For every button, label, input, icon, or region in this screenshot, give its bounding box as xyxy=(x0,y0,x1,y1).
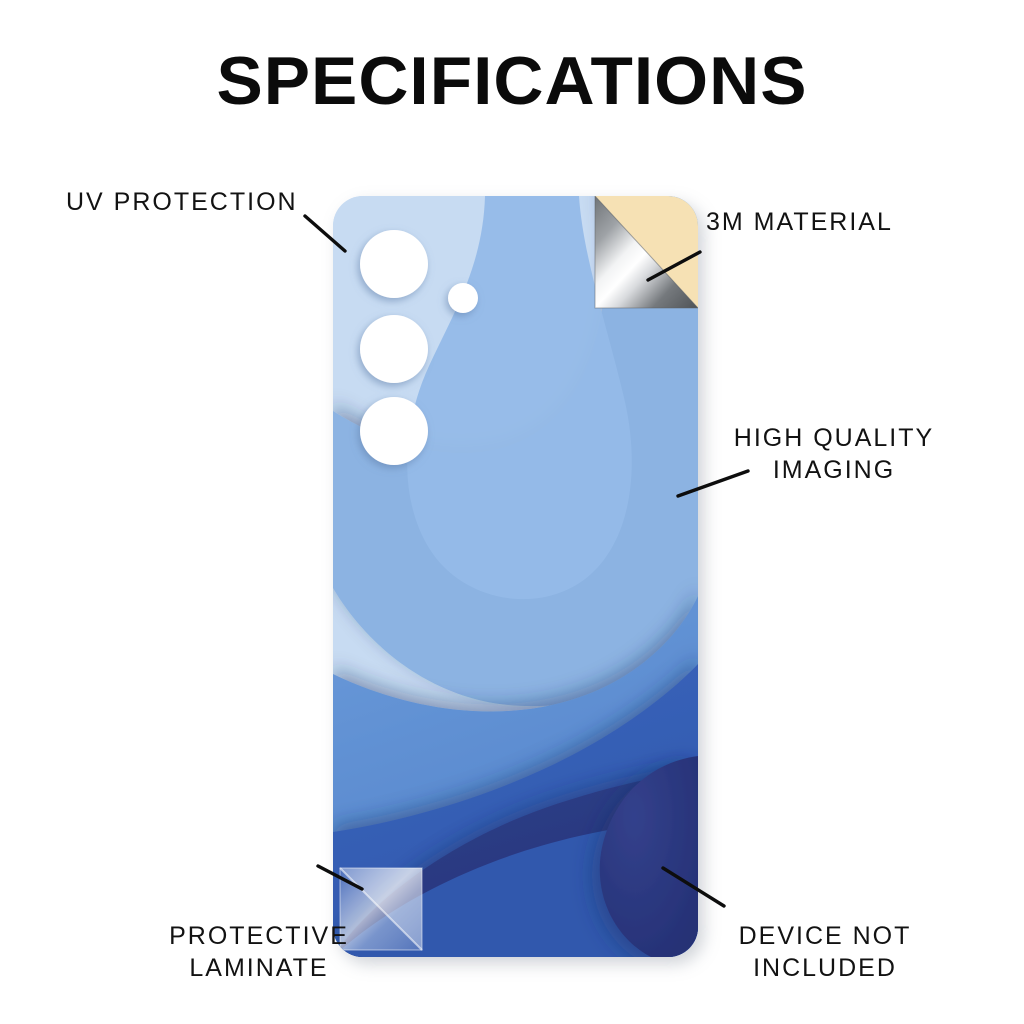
callout-label-device-not-included: DEVICE NOT INCLUDED xyxy=(700,920,950,984)
leader-lines xyxy=(0,0,1024,1024)
leader-line-laminate xyxy=(318,866,362,889)
callout-label-uv-protection: UV PROTECTION xyxy=(66,186,298,218)
callout-label-protective-laminate: PROTECTIVE LAMINATE xyxy=(134,920,384,984)
leader-line-uv xyxy=(305,216,345,251)
leader-line-3m xyxy=(648,252,700,280)
leader-line-device xyxy=(663,868,724,906)
specifications-infographic: SPECIFICATIONS xyxy=(0,0,1024,1024)
callout-label-3m-material: 3M MATERIAL xyxy=(706,206,893,238)
callout-label-high-quality-imaging: HIGH QUALITY IMAGING xyxy=(726,422,942,486)
